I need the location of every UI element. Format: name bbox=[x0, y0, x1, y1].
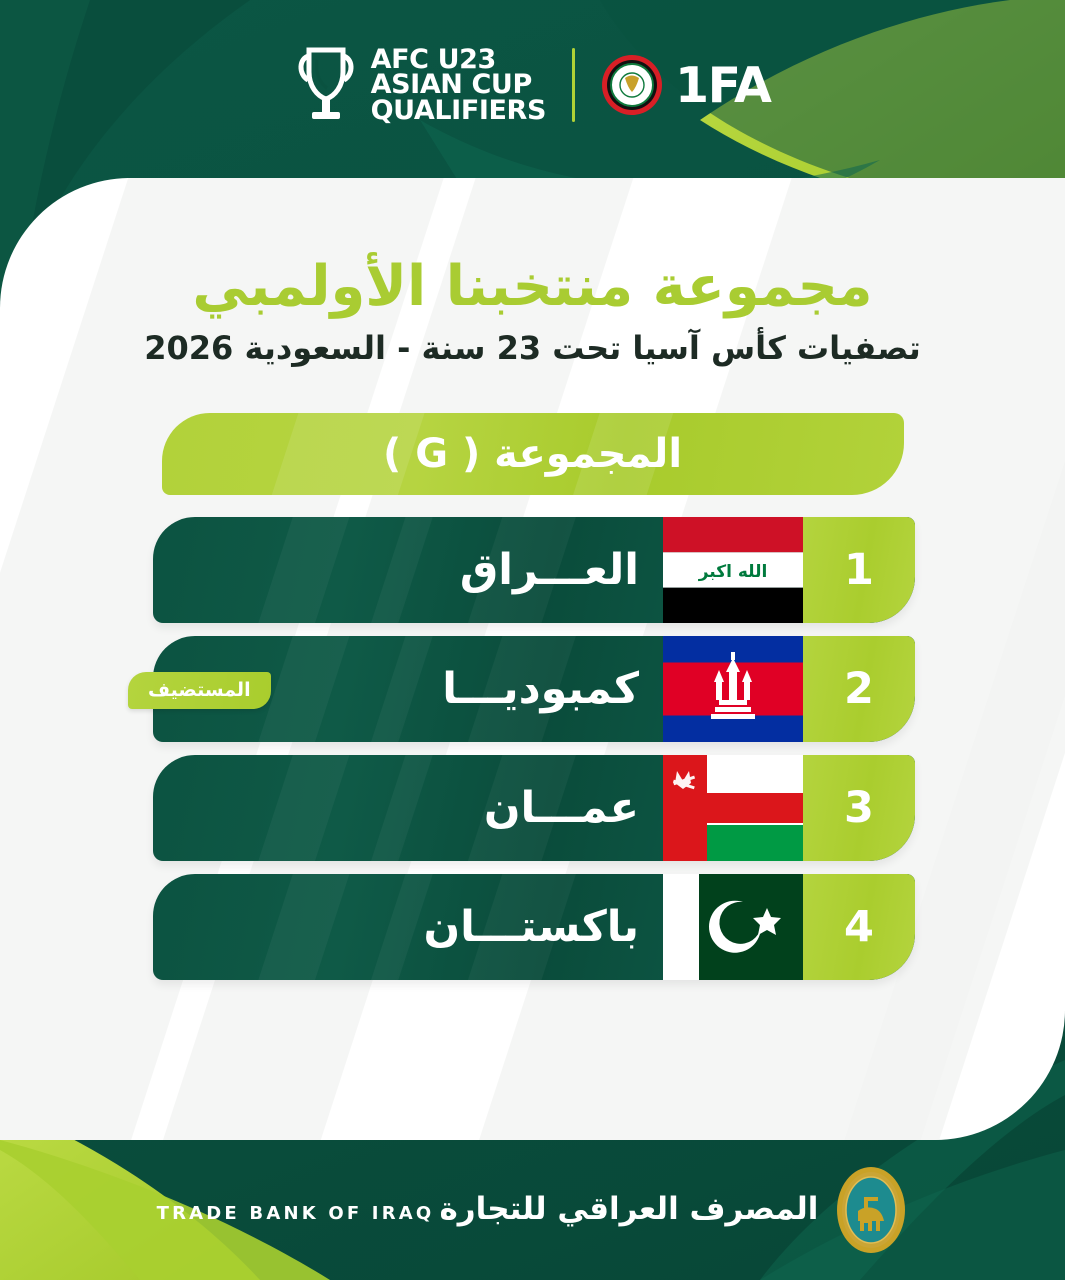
team-rank: 4 bbox=[803, 874, 915, 980]
team-row-1[interactable]: العـــراق الله اكبر 1 bbox=[153, 517, 915, 623]
team-list: العـــراق الله اكبر 1 bbox=[0, 511, 1065, 987]
team-name: عمـــان bbox=[484, 755, 639, 861]
list-item[interactable]: عمـــان bbox=[0, 749, 1065, 868]
page-subtitle: تصفيات كأس آسيا تحت 23 سنة - السعودية 20… bbox=[0, 329, 1065, 367]
header-logos: AFC U23 ASIAN CUP QUALIFIERS 1FA bbox=[0, 30, 1065, 140]
page-title: مجموعة منتخبنا الأولمبي bbox=[0, 256, 1065, 319]
team-name: باكستـــان bbox=[423, 874, 639, 980]
ifa-wordmark: 1FA bbox=[675, 61, 770, 110]
team-rank: 3 bbox=[803, 755, 915, 861]
iraq-flag: الله اكبر bbox=[663, 517, 803, 623]
poster-root: AFC U23 ASIAN CUP QUALIFIERS 1FA bbox=[0, 0, 1065, 1280]
trade-bank-of-iraq-emblem-icon bbox=[834, 1165, 908, 1255]
team-rank: 1 bbox=[803, 517, 915, 623]
pakistan-flag bbox=[663, 874, 803, 980]
team-row-3[interactable]: عمـــان bbox=[153, 755, 915, 861]
list-item[interactable]: المستضيف كمبوديـــا bbox=[0, 630, 1065, 749]
sponsor-wordmark: المصرف العراقي للتجارة TRADE BANK OF IRA… bbox=[157, 1192, 819, 1228]
afc-logo: AFC U23 ASIAN CUP QUALIFIERS bbox=[295, 44, 546, 126]
list-item[interactable]: باكستـــان 4 bbox=[0, 868, 1065, 987]
group-label: المجموعة ( G ) bbox=[383, 431, 682, 477]
ifa-crest-icon bbox=[601, 54, 663, 116]
content-card: مجموعة منتخبنا الأولمبي تصفيات كأس آسيا … bbox=[0, 178, 1065, 1140]
afc-line-3: QUALIFIERS bbox=[371, 98, 546, 123]
vertical-divider bbox=[572, 48, 575, 122]
trophy-icon bbox=[295, 44, 357, 126]
cambodia-flag bbox=[663, 636, 803, 742]
sponsor-name-en: TRADE BANK OF IRAQ bbox=[157, 1203, 435, 1224]
group-header: المجموعة ( G ) bbox=[162, 413, 904, 495]
status-badge: المستضيف bbox=[128, 672, 271, 709]
team-row-4[interactable]: باكستـــان 4 bbox=[153, 874, 915, 980]
svg-text:الله اكبر: الله اكبر bbox=[698, 562, 768, 582]
list-item[interactable]: العـــراق الله اكبر 1 bbox=[0, 511, 1065, 630]
ifa-logo: 1FA bbox=[601, 54, 770, 116]
afc-line-2: ASIAN CUP bbox=[371, 72, 546, 97]
afc-wordmark: AFC U23 ASIAN CUP QUALIFIERS bbox=[371, 47, 546, 122]
sponsor-name-ar: المصرف العراقي للتجارة bbox=[439, 1191, 818, 1227]
footer-sponsor: المصرف العراقي للتجارة TRADE BANK OF IRA… bbox=[0, 1140, 1065, 1280]
team-name: العـــراق bbox=[460, 517, 639, 623]
team-name: كمبوديـــا bbox=[442, 636, 639, 742]
team-rank: 2 bbox=[803, 636, 915, 742]
oman-flag bbox=[663, 755, 803, 861]
